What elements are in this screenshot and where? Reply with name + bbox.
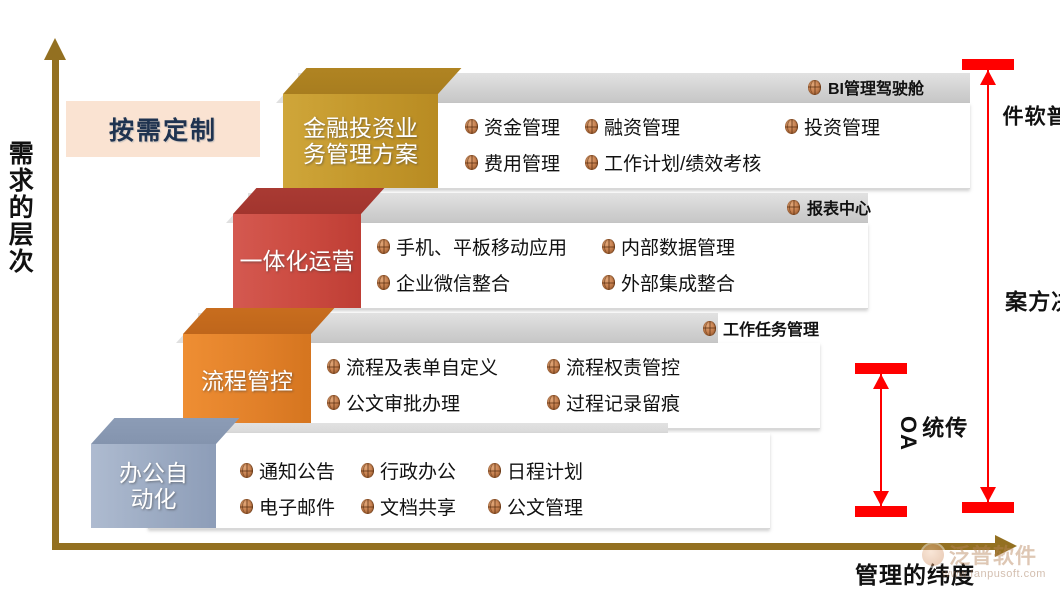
tier-financial-feature-col-3: 投资管理 [785,113,925,176]
tier-integrated-block-label-1: 一体化运营 [240,248,355,274]
feature-item[interactable]: 费用管理 [465,149,585,176]
feature-item[interactable]: 行政办公 [361,457,488,484]
bracket-fanpu-arrow-down-icon [980,487,996,502]
tier-process-block-label-1: 流程管控 [201,368,293,394]
feature-label: 工作计划/绩效考核 [604,149,761,176]
feature-item[interactable]: 外部集成整合 [602,269,782,296]
feature-label: 融资管理 [604,113,680,140]
feature-label: 流程权责管控 [566,353,680,380]
tier-financial-block-label-2: 务管理方案 [303,141,418,167]
bracket-traditional-oa-line [880,374,882,506]
feature-label: 行政办公 [380,457,456,484]
horizontal-axis-label: 管理的纬度 [855,556,975,590]
feature-label: 手机、平板移动应用 [396,233,567,260]
globe-bullet-icon [377,239,390,254]
globe-bullet-icon [787,200,800,215]
diagram-canvas: 需求的层次 管理的纬度 按需定制 BI管理驾驶舱 金融投资业 务管理方案 资金管… [0,0,1060,594]
globe-bullet-icon [240,499,253,514]
bracket-fanpu-top-cap [962,59,1014,70]
bracket-fanpu-label-top: 泛 普 软 件 [1000,105,1060,131]
globe-bullet-icon [703,321,716,336]
feature-item[interactable]: 内部数据管理 [602,233,782,260]
tier-financial-block[interactable]: 金融投资业 务管理方案 [283,94,438,188]
tier-financial-shelf-header: BI管理驾驶舱 [808,75,924,99]
globe-bullet-icon [465,119,478,134]
tier-integrated-feature-col-2: 内部数据管理 外部集成整合 [602,233,782,296]
globe-bullet-icon [585,155,598,170]
tier-financial-block-top [283,68,461,94]
vertical-axis [52,55,59,550]
feature-label: 日程计划 [507,457,583,484]
bracket-fanpu-label-bottom: 行业整体解决方案 [1003,290,1060,313]
feature-item[interactable]: 通知公告 [240,457,361,484]
tier-process-feature-col-1: 流程及表单自定义 公文审批办理 [327,353,547,416]
feature-label: 资金管理 [484,113,560,140]
tier-integrated-shelf-header-label: 报表中心 [807,195,871,219]
globe-bullet-icon [465,155,478,170]
tier-process-shelf-header-label: 工作任务管理 [723,316,819,340]
bracket-traditional-oa-arrow-down-icon [873,491,889,506]
feature-item[interactable]: 公文审批办理 [327,389,547,416]
feature-item[interactable]: 流程权责管控 [547,353,727,380]
bracket-fanpu-bottom-cap [962,502,1014,513]
bracket-traditional-oa-bottom-cap [855,506,907,517]
feature-item[interactable]: 日程计划 [488,457,618,484]
feature-label: 电子邮件 [259,493,335,520]
globe-bullet-icon [547,359,560,374]
feature-item[interactable]: 资金管理 [465,113,585,140]
feature-label: 文档共享 [380,493,456,520]
tier-integrated-block[interactable]: 一体化运营 [233,214,361,308]
feature-label: 内部数据管理 [621,233,735,260]
tier-process-feature-col-2: 流程权责管控 过程记录留痕 [547,353,727,416]
feature-label: 公文管理 [507,493,583,520]
globe-bullet-icon [785,119,798,134]
globe-bullet-icon [488,463,501,478]
tier-process-block[interactable]: 流程管控 [183,334,311,428]
globe-bullet-icon [327,359,340,374]
feature-item[interactable]: 公文管理 [488,493,618,520]
feature-item[interactable]: 电子邮件 [240,493,361,520]
tier-office-block[interactable]: 办公自 动化 [91,444,216,528]
globe-bullet-icon [547,395,560,410]
on-demand-badge: 按需定制 [66,101,260,157]
globe-bullet-icon [327,395,340,410]
tier-process-shelf-header: 工作任务管理 [703,316,819,340]
globe-bullet-icon [585,119,598,134]
tier-office-block-top [91,418,239,444]
feature-label: 通知公告 [259,457,335,484]
globe-bullet-icon [361,499,374,514]
feature-label: 企业微信整合 [396,269,510,296]
horizontal-axis-arrow-icon [995,535,1017,557]
tier-integrated-shelf-header: 报表中心 [787,195,871,219]
tier-office-feature-col-2: 行政办公 文档共享 [361,457,488,520]
feature-label: 过程记录留痕 [566,389,680,416]
bracket-traditional-oa-label: 传统OA [897,416,966,451]
globe-bullet-icon [488,499,501,514]
tier-process-block-top [183,308,334,334]
bracket-traditional-oa-top-cap [855,363,907,374]
globe-bullet-icon [808,80,821,95]
tier-office-block-label-1: 办公自 [119,460,188,486]
tier-integrated-block-top [233,188,384,214]
globe-bullet-icon [602,275,615,290]
bracket-fanpu-line [987,70,989,502]
globe-bullet-icon [240,463,253,478]
vertical-axis-label: 需求的层次 [6,140,32,275]
feature-item[interactable]: 流程及表单自定义 [327,353,547,380]
feature-label: 流程及表单自定义 [346,353,498,380]
tier-integrated-feature-col-1: 手机、平板移动应用 企业微信整合 [377,233,602,296]
feature-item[interactable]: 企业微信整合 [377,269,602,296]
feature-item[interactable]: 工作计划/绩效考核 [585,149,785,176]
feature-item[interactable]: 手机、平板移动应用 [377,233,602,260]
feature-item[interactable]: 投资管理 [785,113,925,140]
globe-bullet-icon [361,463,374,478]
tier-financial-shelf-header-label: BI管理驾驶舱 [828,75,924,99]
tier-financial-feature-col-1: 资金管理 费用管理 [465,113,585,176]
feature-label: 投资管理 [804,113,880,140]
tier-office-feature-col-3: 日程计划 公文管理 [488,457,618,520]
tier-financial-block-label-1: 金融投资业 [303,115,418,141]
globe-bullet-icon [377,275,390,290]
feature-item[interactable]: 过程记录留痕 [547,389,727,416]
feature-label: 公文审批办理 [346,389,460,416]
tier-office-block-label-2: 动化 [119,486,188,512]
feature-item[interactable]: 文档共享 [361,493,488,520]
feature-label: 外部集成整合 [621,269,735,296]
tier-financial-feature-col-2: 融资管理 工作计划/绩效考核 [585,113,785,176]
horizontal-axis [52,543,1002,550]
feature-label: 费用管理 [484,149,560,176]
globe-bullet-icon [602,239,615,254]
feature-item[interactable]: 融资管理 [585,113,785,140]
vertical-axis-arrow-icon [44,38,66,60]
on-demand-badge-label: 按需定制 [109,111,217,147]
tier-office-feature-col-1: 通知公告 电子邮件 [240,457,361,520]
